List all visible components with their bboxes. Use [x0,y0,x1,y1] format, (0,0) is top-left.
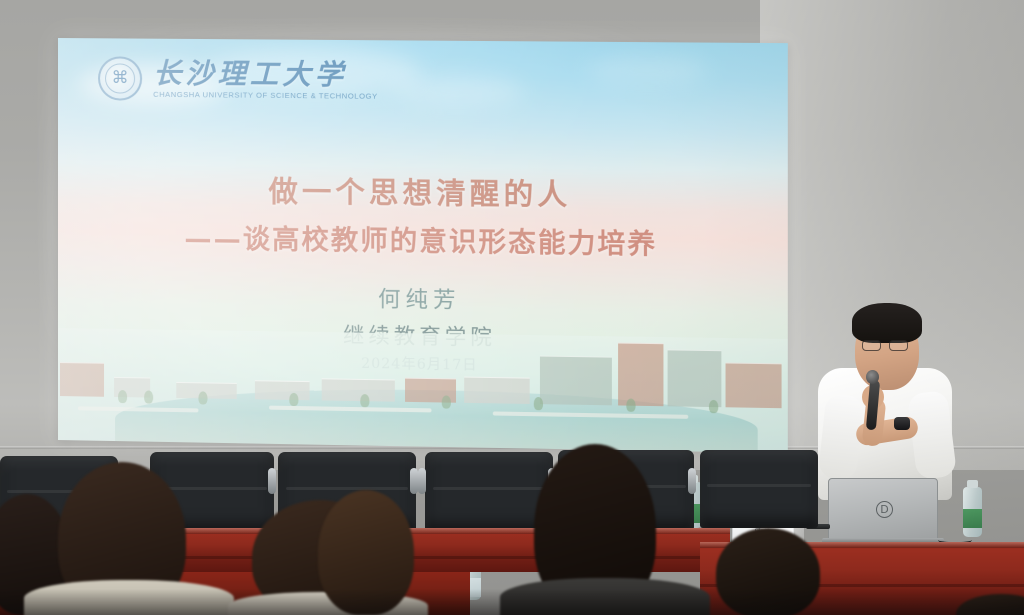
water-bottle[interactable] [963,487,982,537]
bottle-label [963,509,982,528]
lecture-hall-scene: ⌘ 长沙理工大学 CHANGSHA UNIVERSITY OF SCIENCE … [0,0,1024,615]
microphone-head [866,370,879,384]
projector-washout-overlay [58,38,788,453]
foreground-shadow [0,589,1024,615]
speaker-hair [852,303,922,343]
chair-arm [688,468,696,494]
chair-arm [418,468,426,494]
chair[interactable] [700,450,818,528]
bottle-cap [967,480,978,488]
speaker-glasses-icon [862,340,908,351]
dell-logo-icon: D [876,501,893,518]
laptop-lid[interactable]: D [828,478,938,540]
chair-arm [410,468,418,494]
chair-arm [268,468,276,494]
wristwatch [894,417,910,430]
projection-screen-slide[interactable]: ⌘ 长沙理工大学 CHANGSHA UNIVERSITY OF SCIENCE … [58,38,788,453]
